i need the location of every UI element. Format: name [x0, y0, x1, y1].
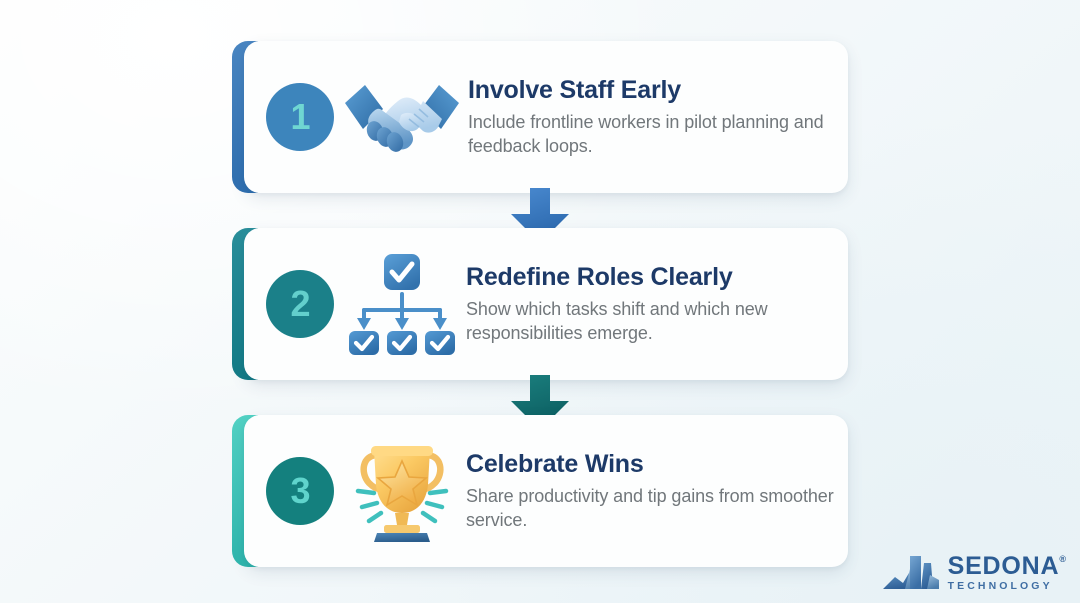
step-card-body-1: 1 — [244, 41, 848, 193]
step-card-1: 1 — [232, 41, 848, 193]
registered-mark-icon: ® — [1059, 554, 1066, 564]
step-number-badge-2: 2 — [266, 270, 334, 338]
step-description-2: Show which tasks shift and which new res… — [466, 298, 834, 345]
step-text-2: Redefine Roles Clearly Show which tasks … — [466, 263, 848, 345]
step-headline-2: Redefine Roles Clearly — [466, 263, 834, 291]
step-text-3: Celebrate Wins Share productivity and ti… — [466, 450, 848, 532]
mountain-buildings-icon — [883, 553, 939, 593]
brand-tagline: TECHNOLOGY — [948, 581, 1066, 592]
step-description-1: Include frontline workers in pilot plann… — [468, 111, 834, 158]
step-number-badge-3: 3 — [266, 457, 334, 525]
step-card-body-2: 2 — [244, 228, 848, 380]
trophy-icon — [342, 436, 462, 546]
brand-name: SEDONA — [948, 554, 1060, 579]
handshake-icon — [342, 62, 462, 172]
brand-logo: SEDONA® TECHNOLOGY — [883, 553, 1066, 593]
org-chart-checkboxes-icon — [342, 249, 462, 359]
infographic-canvas: 1 — [0, 0, 1080, 603]
step-headline-1: Involve Staff Early — [468, 76, 834, 104]
step-card-2: 2 — [232, 228, 848, 380]
step-headline-3: Celebrate Wins — [466, 450, 834, 478]
brand-logo-text: SEDONA® TECHNOLOGY — [948, 554, 1066, 592]
step-text-1: Involve Staff Early Include frontline wo… — [468, 76, 848, 158]
step-description-3: Share productivity and tip gains from sm… — [466, 485, 834, 532]
step-card-3: 3 — [232, 415, 848, 567]
step-card-body-3: 3 — [244, 415, 848, 567]
step-number-badge-1: 1 — [266, 83, 334, 151]
